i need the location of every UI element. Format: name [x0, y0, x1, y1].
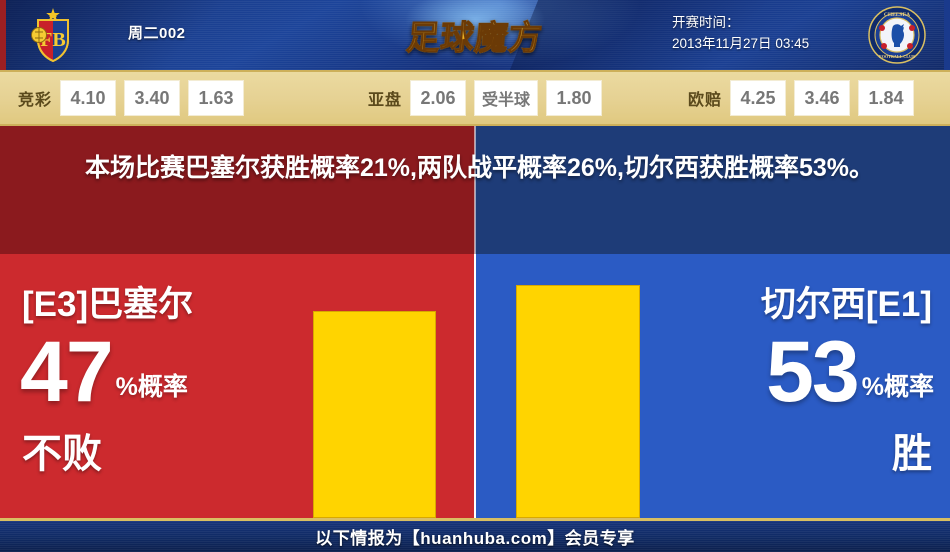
away-probability-suffix: %概率: [858, 370, 934, 412]
odds-cell-away[interactable]: 1.63: [188, 80, 244, 116]
odds-cell-away[interactable]: 1.84: [858, 80, 914, 116]
kickoff-time: 开赛时间： 2013年11月27日 03:45: [672, 12, 809, 54]
kickoff-label: 开赛时间：: [672, 12, 809, 33]
basel-crest-icon: FB: [22, 4, 84, 66]
footer-bar: 以下情报为【huanhuba.com】会员专享: [0, 518, 950, 552]
summary-bg-away: [475, 126, 950, 254]
match-number: 周二002: [128, 22, 186, 43]
header-edge-left: [0, 0, 6, 70]
brand-logo-text: 足球魔方: [393, 11, 557, 59]
bar-away: [516, 285, 640, 518]
odds-group-label: 亚盘: [368, 86, 402, 110]
odds-group-label: 竞彩: [18, 86, 52, 110]
svg-text:CHELSEA: CHELSEA: [884, 12, 910, 18]
home-probability-suffix: %概率: [112, 370, 188, 412]
header-bar: FB 周二002 足球魔方 开赛时间： 2013年11月27日 03:45 CH…: [0, 0, 950, 70]
odds-cell-home[interactable]: 2.06: [410, 80, 466, 116]
odds-cell-away[interactable]: 1.80: [546, 80, 602, 116]
away-team-name: 切尔西[E1]: [761, 286, 932, 324]
odds-cell-draw[interactable]: 3.40: [124, 80, 180, 116]
panel-divider: [474, 254, 476, 518]
odds-group-asian: 亚盘 2.06 受半球 1.80: [368, 80, 610, 116]
match-prediction-graphic: FB 周二002 足球魔方 开赛时间： 2013年11月27日 03:45 CH…: [0, 0, 950, 552]
probability-panel: [E3]巴塞尔 47 %概率 不败 切尔西[E1] 53 %概率 胜: [0, 254, 950, 518]
odds-cell-home[interactable]: 4.10: [60, 80, 116, 116]
summary-strip: 本场比赛巴塞尔获胜概率21%,两队战平概率26%,切尔西获胜概率53%。: [0, 126, 950, 254]
footer-text: 以下情报为【huanhuba.com】会员专享: [315, 524, 634, 549]
away-probability-value: 53: [766, 332, 858, 412]
summary-text: 本场比赛巴塞尔获胜概率21%,两队战平概率26%,切尔西获胜概率53%。: [85, 148, 875, 188]
odds-group-jingcai: 竞彩 4.10 3.40 1.63: [18, 80, 252, 116]
summary-bg-home: [0, 126, 475, 254]
odds-cell-home[interactable]: 4.25: [730, 80, 786, 116]
summary-divider: [474, 126, 476, 254]
home-verdict: 不败: [22, 432, 102, 476]
odds-cell-handicap[interactable]: 受半球: [474, 80, 538, 116]
brand-logo: 足球魔方: [395, 9, 555, 61]
kickoff-value: 2013年11月27日 03:45: [672, 33, 809, 54]
home-team-name: [E3]巴塞尔: [22, 286, 193, 324]
odds-group-european: 欧赔 4.25 3.46 1.84: [688, 80, 922, 116]
odds-bar: 竞彩 4.10 3.40 1.63 亚盘 2.06 受半球 1.80 欧赔 4.…: [0, 70, 950, 126]
chelsea-crest-icon: CHELSEA FOOTBALL CLUB: [868, 6, 926, 64]
home-probability-value: 47: [20, 332, 112, 412]
svg-text:FOOTBALL CLUB: FOOTBALL CLUB: [879, 54, 915, 59]
odds-cell-draw[interactable]: 3.46: [794, 80, 850, 116]
home-probability: 47 %概率: [20, 332, 188, 412]
odds-group-label: 欧赔: [688, 86, 722, 110]
away-verdict: 胜: [892, 432, 932, 476]
header-edge-right: [944, 0, 950, 70]
away-probability: 53 %概率: [766, 332, 934, 412]
bar-home: [313, 311, 436, 518]
